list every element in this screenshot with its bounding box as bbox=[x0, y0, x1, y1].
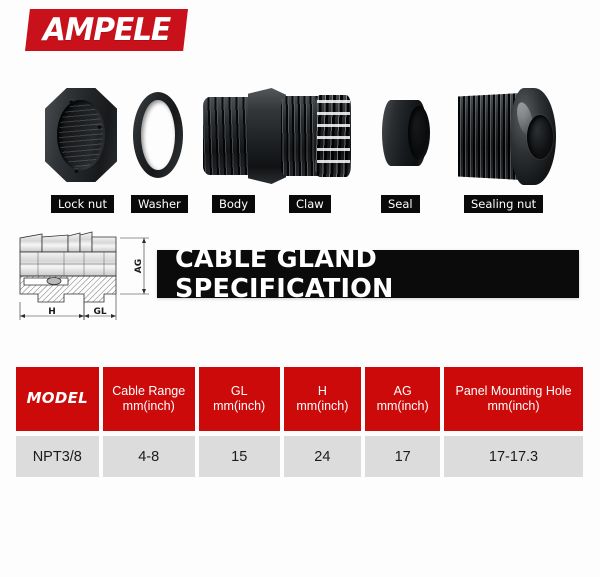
caption-sealing-nut: Sealing nut bbox=[464, 195, 543, 213]
column-header-gl-line1: GL bbox=[231, 384, 248, 399]
table-header-row: MODEL Cable Range mm(inch) GL mm(inch) H… bbox=[16, 367, 583, 431]
dimension-label-h: H bbox=[48, 307, 56, 317]
column-header-h-line1: H bbox=[318, 384, 327, 399]
seal-bore bbox=[408, 106, 430, 160]
brand-logo: AMPELE bbox=[25, 9, 188, 51]
caption-claw: Claw bbox=[289, 195, 331, 213]
claw-slot-gaps bbox=[317, 100, 350, 172]
column-header-model: MODEL bbox=[16, 367, 99, 431]
column-header-cable-range: Cable Range mm(inch) bbox=[103, 367, 195, 431]
column-header-panel-line1: Panel Mounting Hole bbox=[455, 384, 571, 399]
column-header-h-line2: mm(inch) bbox=[296, 399, 348, 414]
lock-nut-hole-right bbox=[97, 124, 102, 129]
sealing-nut-cable-bore bbox=[527, 115, 553, 159]
column-header-panel-mounting-hole: Panel Mounting Hole mm(inch) bbox=[444, 367, 583, 431]
caption-lock-nut: Lock nut bbox=[51, 195, 114, 213]
cell-panel-mounting-hole: 17-17.3 bbox=[444, 436, 583, 477]
column-header-cable-range-line1: Cable Range bbox=[112, 384, 185, 399]
technical-drawing: AG H GL bbox=[8, 228, 156, 324]
spec-title-banner: CABLE GLAND SPECIFICATION bbox=[157, 250, 579, 298]
cell-ag: 17 bbox=[365, 436, 440, 477]
cell-cable-range: 4-8 bbox=[103, 436, 195, 477]
product-image-body-and-claw bbox=[203, 88, 351, 184]
logo-wordmark: AMPELE bbox=[28, 9, 184, 51]
page-title: CABLE GLAND SPECIFICATION bbox=[157, 244, 579, 304]
product-image-sealing-nut bbox=[458, 88, 556, 185]
body-threaded-shank bbox=[203, 97, 255, 175]
cell-h: 24 bbox=[284, 436, 362, 477]
cell-gl: 15 bbox=[199, 436, 280, 477]
column-header-ag-line1: AG bbox=[394, 384, 412, 399]
column-header-h: H mm(inch) bbox=[284, 367, 362, 431]
column-header-panel-line2: mm(inch) bbox=[487, 399, 539, 414]
caption-body: Body bbox=[212, 195, 255, 213]
table-row: NPT3/8 4-8 15 24 17 17-17.3 bbox=[16, 436, 583, 477]
column-header-ag: AG mm(inch) bbox=[365, 367, 440, 431]
washer-inner-hole bbox=[141, 100, 175, 171]
product-image-lock-nut bbox=[45, 88, 117, 182]
column-header-gl: GL mm(inch) bbox=[199, 367, 280, 431]
column-header-ag-line2: mm(inch) bbox=[377, 399, 429, 414]
dimension-label-gl: GL bbox=[93, 307, 106, 317]
column-header-gl-line2: mm(inch) bbox=[213, 399, 265, 414]
caption-seal: Seal bbox=[381, 195, 420, 213]
lock-nut-hole-bottom bbox=[74, 168, 79, 173]
specification-table: MODEL Cable Range mm(inch) GL mm(inch) H… bbox=[16, 367, 583, 477]
product-image-seal bbox=[382, 100, 427, 166]
dimension-label-ag: AG bbox=[134, 259, 144, 273]
cable-gland-spec-page: AMPELE Lock nut Washer Body Claw Seal Se… bbox=[0, 0, 600, 577]
lock-nut-internal-thread bbox=[59, 102, 104, 168]
column-header-model-line1: MODEL bbox=[27, 390, 88, 408]
cell-model: NPT3/8 bbox=[16, 436, 99, 477]
product-image-washer bbox=[133, 92, 183, 178]
drawing-outline bbox=[20, 232, 116, 252]
drawing-section-hatch bbox=[20, 276, 116, 302]
column-header-cable-range-line2: mm(inch) bbox=[123, 399, 175, 414]
caption-washer: Washer bbox=[131, 195, 188, 213]
